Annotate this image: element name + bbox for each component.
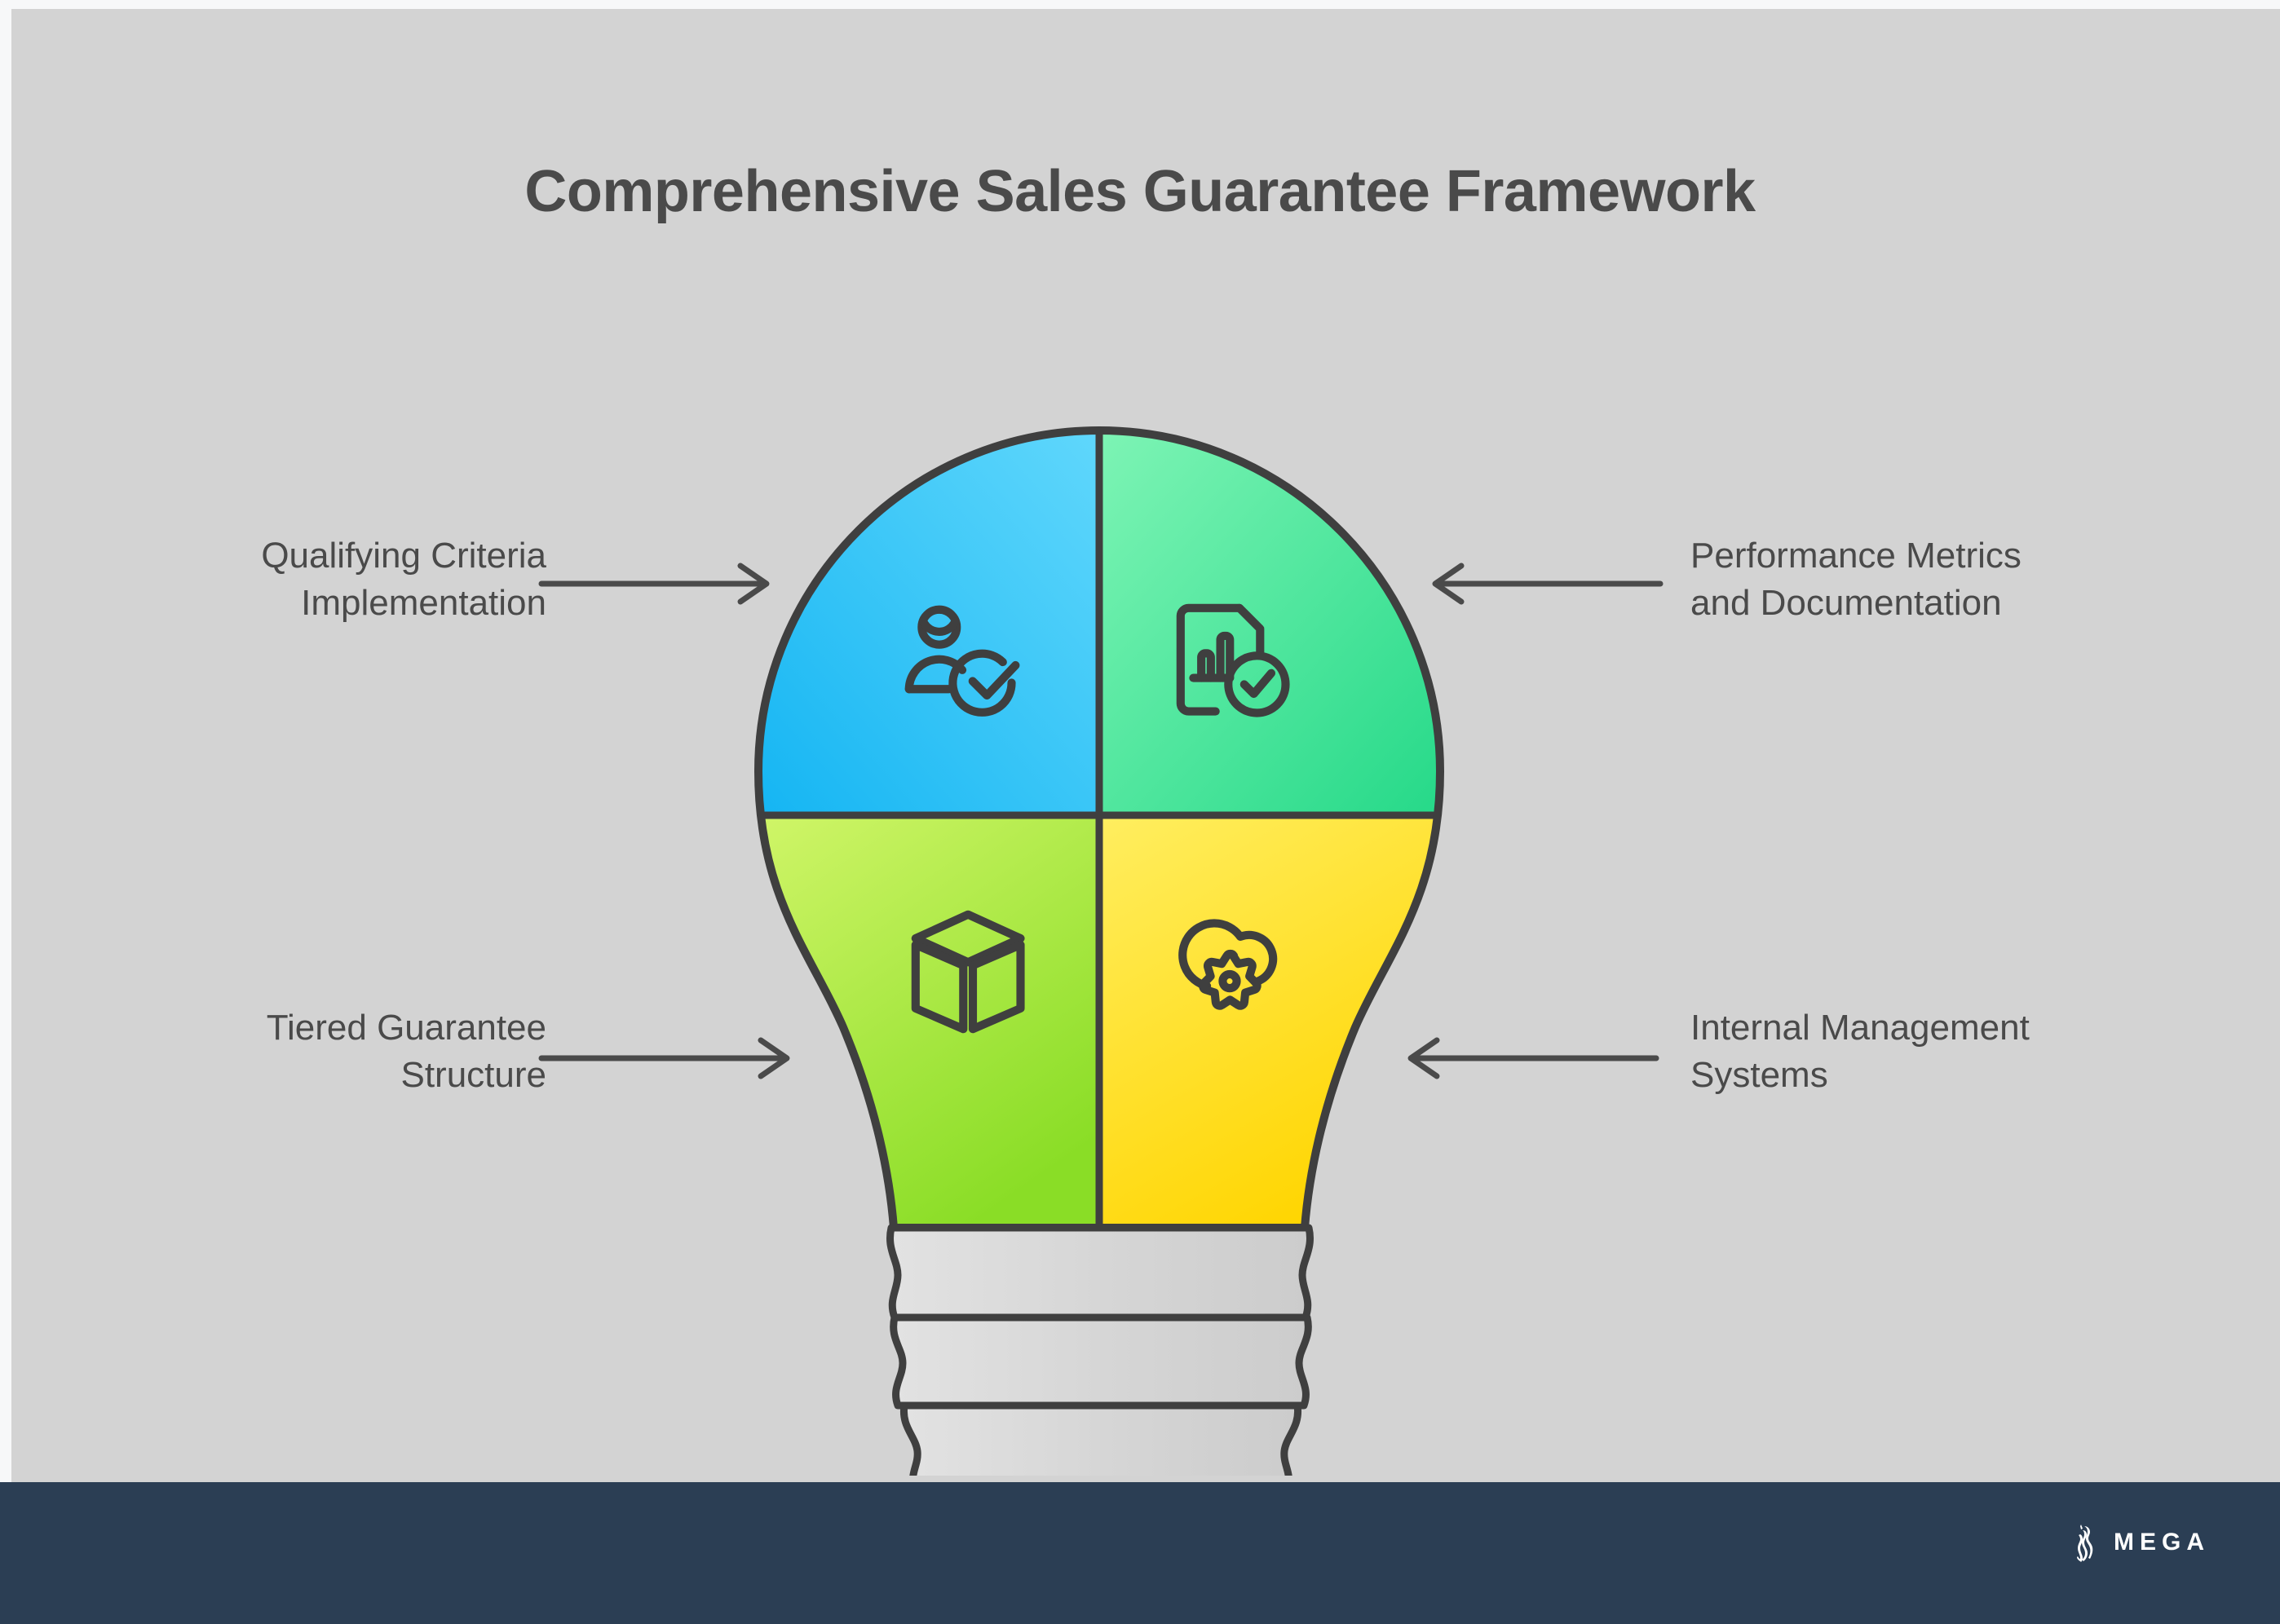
label-internal-management: Internal Management Systems	[1690, 1004, 2180, 1099]
label-line-1: Tiered Guarantee	[90, 1004, 546, 1052]
label-line-2: and Documentation	[1690, 580, 2180, 627]
statue-icon	[2071, 1523, 2099, 1562]
quadrant-top-left[interactable]	[734, 408, 1099, 815]
label-line-2: Structure	[90, 1052, 546, 1099]
label-line-2: Systems	[1690, 1052, 2180, 1099]
lightbulb-diagram	[734, 408, 1468, 1476]
label-line-1: Qualifying Criteria	[90, 532, 546, 580]
quadrant-bottom-right[interactable]	[1099, 815, 1468, 1239]
footer-bar: MEGA	[0, 1482, 2280, 1624]
label-performance-metrics: Performance Metrics and Documentation	[1690, 532, 2180, 627]
label-qualifying-criteria: Qualifying Criteria Implementation	[90, 532, 546, 627]
label-line-2: Implementation	[90, 580, 546, 627]
label-line-1: Performance Metrics	[1690, 532, 2180, 580]
infographic-canvas: Comprehensive Sales Guarantee Framework …	[0, 0, 2280, 1624]
quadrant-top-right[interactable]	[1099, 408, 1468, 815]
brand-logo: MEGA	[2071, 1523, 2210, 1562]
label-tiered-guarantee: Tiered Guarantee Structure	[90, 1004, 546, 1099]
quadrant-bottom-left[interactable]	[734, 815, 1099, 1239]
bulb-screw-base	[890, 1228, 1310, 1476]
brand-name: MEGA	[2114, 1530, 2210, 1555]
page-title: Comprehensive Sales Guarantee Framework	[0, 160, 2280, 224]
label-line-1: Internal Management	[1690, 1004, 2180, 1052]
